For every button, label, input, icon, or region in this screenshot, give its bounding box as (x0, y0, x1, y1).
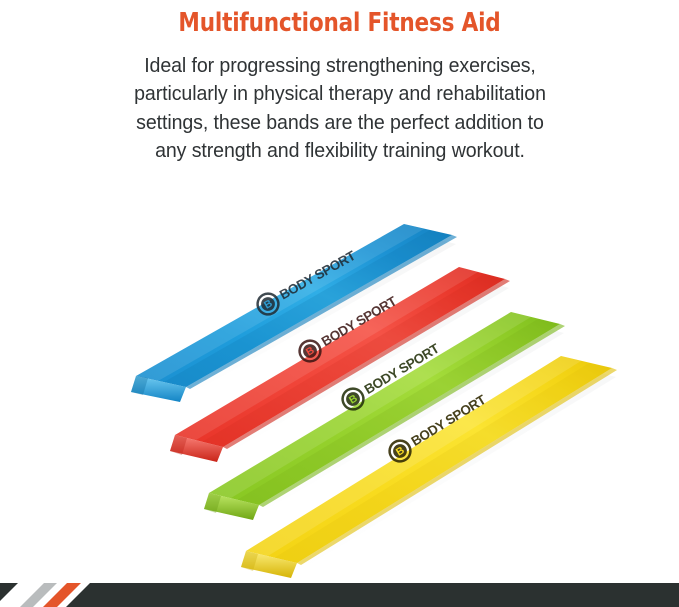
marketing-copy-block: Multifunctional Fitness Aid Ideal for pr… (0, 0, 679, 166)
footer-bar-fill (0, 583, 679, 607)
body-copy-line-2: particularly in physical therapy and reh… (50, 80, 629, 108)
footer-stripes (0, 583, 679, 607)
body-copy-line-3: settings, these bands are the perfect ad… (50, 109, 629, 137)
resistance-bands-illustration: B BODY SPORT B BODY SPORT (0, 206, 679, 583)
body-copy: Ideal for progressing strengthening exer… (50, 52, 629, 166)
footer-accent-bar (0, 583, 679, 607)
body-copy-line-4: any strength and flexibility training wo… (50, 137, 629, 165)
product-detail-page: Multifunctional Fitness Aid Ideal for pr… (0, 0, 679, 607)
body-copy-line-1: Ideal for progressing strengthening exer… (50, 52, 629, 80)
page-title: Multifunctional Fitness Aid (20, 8, 658, 38)
product-photo: B BODY SPORT B BODY SPORT (0, 206, 679, 583)
